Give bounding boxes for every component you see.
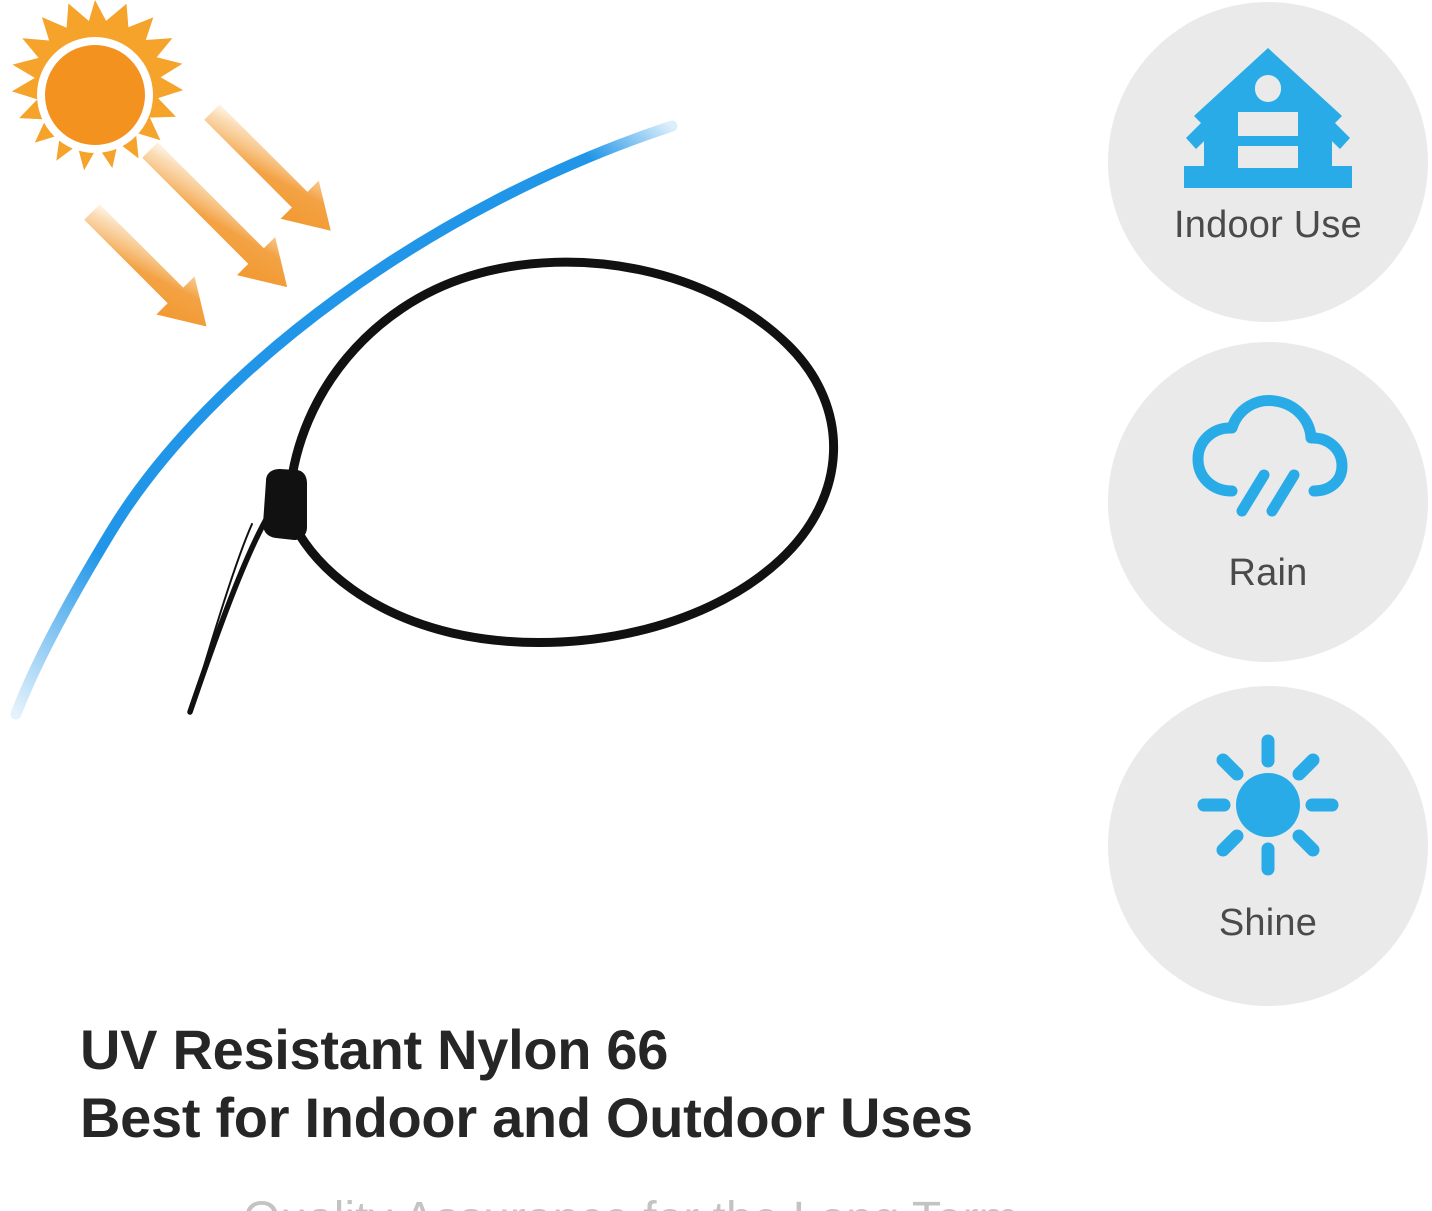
product-infographic: Indoor Use Rain <box>0 0 1432 1211</box>
uv-resistance-illustration <box>0 0 1090 1000</box>
cable-tie-icon <box>190 262 834 713</box>
headline-block: UV Resistant Nylon 66 Best for Indoor an… <box>80 1016 1060 1152</box>
rain-cloud-icon <box>1180 390 1356 532</box>
feature-badge-column: Indoor Use Rain <box>1108 0 1432 1010</box>
uv-shield-arc-icon <box>16 126 672 714</box>
badge-rain[interactable]: Rain <box>1108 342 1428 662</box>
badge-label: Shine <box>1219 904 1317 942</box>
clipped-subtext-label: Quality Assurance for the Long Term <box>243 1196 1043 1211</box>
sun-icon <box>1180 732 1356 878</box>
headline-line-2: Best for Indoor and Outdoor Uses <box>80 1084 1060 1152</box>
badge-label: Rain <box>1229 554 1308 592</box>
house-icon <box>1180 44 1356 194</box>
badge-label: Indoor Use <box>1174 206 1362 244</box>
headline-line-1: UV Resistant Nylon 66 <box>80 1016 1060 1084</box>
badge-indoor-use[interactable]: Indoor Use <box>1108 2 1428 322</box>
clipped-subtext: Quality Assurance for the Long Term <box>243 1196 1043 1211</box>
badge-shine[interactable]: Shine <box>1108 686 1428 1006</box>
